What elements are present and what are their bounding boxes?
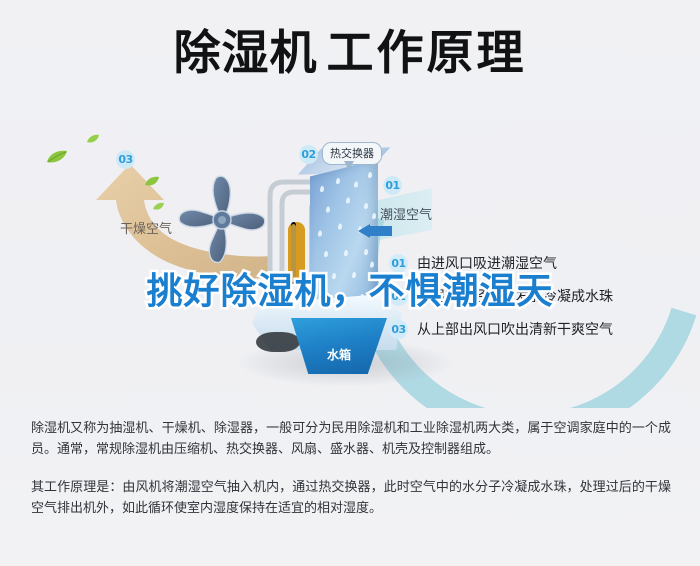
page-title-part-b: 工作原理 bbox=[327, 30, 527, 77]
body-copy: 除湿机又称为抽湿机、干燥机、除湿器，一般可分为民用除湿机和工业除湿机两大类，属于… bbox=[31, 418, 671, 536]
humid-air-label: 潮湿空气 bbox=[380, 204, 432, 223]
leaf-icon bbox=[152, 202, 165, 211]
leaf-icon bbox=[144, 176, 160, 187]
callout-pointer-icon bbox=[344, 161, 354, 170]
dry-air-label: 干燥空气 bbox=[120, 218, 172, 237]
paragraph-2: 其工作原理是：由风机将潮湿空气抽入机内，通过热交换器，此时空气中的水分子冷凝成水… bbox=[31, 477, 671, 519]
overlay-headline: 挑好除湿机，不惧潮湿天 bbox=[0, 262, 700, 314]
leaf-icon bbox=[46, 150, 68, 164]
page-title: 除湿机工作原理 bbox=[0, 30, 700, 77]
infographic-page: 除湿机工作原理 bbox=[0, 0, 700, 566]
diagram-badge-03: 03 bbox=[116, 150, 135, 169]
water-tank-label: 水箱 bbox=[291, 346, 387, 363]
leaf-icon bbox=[86, 134, 100, 144]
paragraph-1: 除湿机又称为抽湿机、干燥机、除湿器，一般可分为民用除湿机和工业除湿机两大类，属于… bbox=[31, 418, 671, 460]
list-item: 03 从上部出风口吹出清新干爽空气 bbox=[389, 316, 689, 342]
intake-arrow-icon bbox=[358, 223, 392, 237]
diagram-badge-01: 01 bbox=[383, 176, 402, 195]
legend-text-03: 从上部出风口吹出清新干爽空气 bbox=[417, 319, 613, 339]
page-title-part-a: 除湿机 bbox=[174, 30, 318, 77]
diagram-badge-02: 02 bbox=[299, 145, 318, 164]
legend-badge-03: 03 bbox=[389, 320, 408, 339]
